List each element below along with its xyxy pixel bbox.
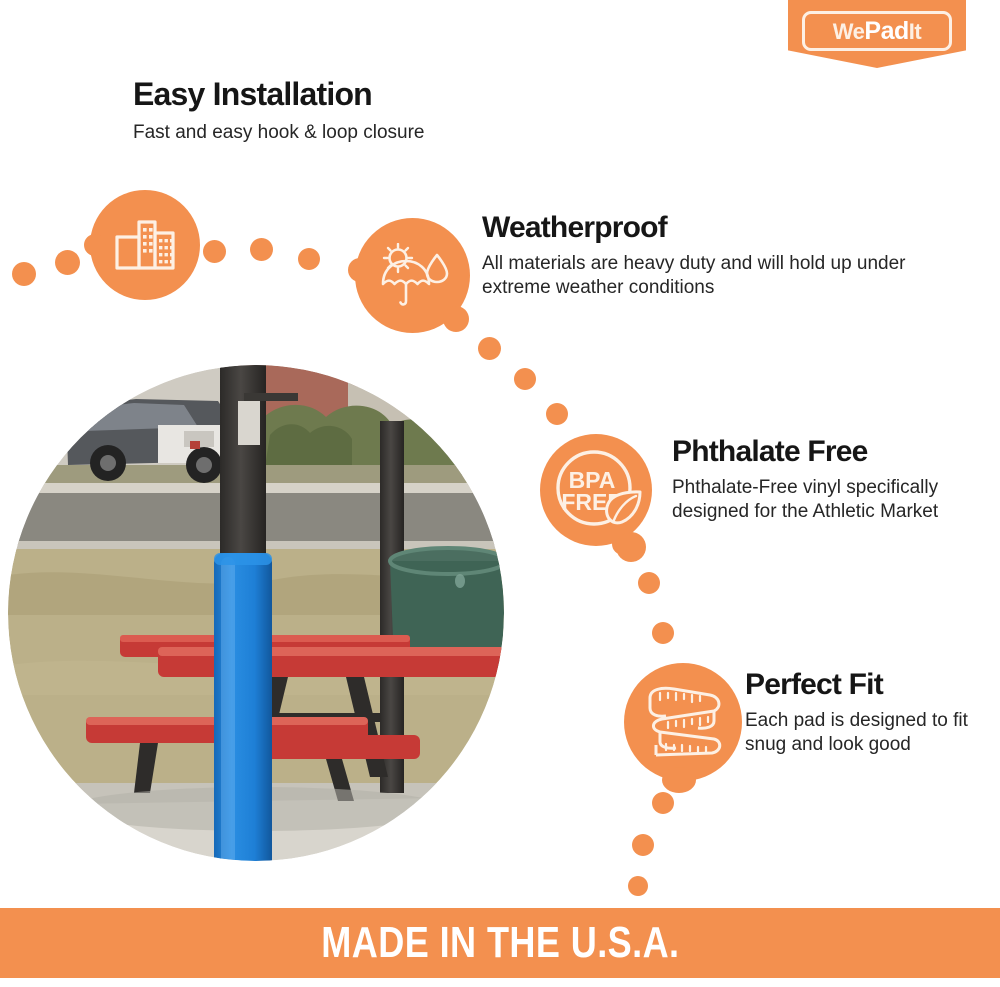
- feature-description: Each pad is designed to fit snug and loo…: [745, 709, 985, 758]
- feature-block-phthalate-free: Phthalate Free Phthalate-Free vinyl spec…: [672, 436, 972, 524]
- feature-title: Phthalate Free: [672, 436, 972, 468]
- trail-dot: [478, 337, 501, 360]
- badge-nub: [348, 258, 372, 282]
- trail-dot: [638, 572, 660, 594]
- trail-dot: [298, 248, 320, 270]
- badge-nub: [616, 532, 646, 562]
- trail-dot: [652, 792, 674, 814]
- feature-block-weatherproof: Weatherproof All materials are heavy dut…: [482, 212, 912, 300]
- building-installation-icon: [90, 190, 200, 300]
- logo-text-pad: Pad: [864, 17, 908, 45]
- logo-text-it: It: [909, 19, 921, 44]
- feature-block-perfect-fit: Perfect Fit Each pad is designed to fit …: [745, 669, 985, 757]
- badge-nub: [84, 234, 106, 256]
- made-in-usa-text: MADE IN THE U.S.A.: [321, 918, 679, 968]
- made-in-usa-banner: MADE IN THE U.S.A.: [0, 908, 1000, 978]
- brand-logo[interactable]: WePadIt: [788, 0, 966, 68]
- feature-title: Weatherproof: [482, 212, 912, 244]
- logo-text-we: We: [833, 19, 865, 44]
- feature-description: Fast and easy hook & loop closure: [133, 121, 553, 145]
- feature-block-easy-installation: Easy Installation Fast and easy hook & l…: [133, 78, 553, 145]
- feature-title: Perfect Fit: [745, 669, 985, 701]
- product-photo: [8, 365, 504, 861]
- trail-dot: [632, 834, 654, 856]
- logo-outline-box: WePadIt: [802, 11, 952, 51]
- trail-dot: [546, 403, 568, 425]
- bpa-free-leaf-icon: BPA FREE: [540, 434, 652, 546]
- trail-dot: [652, 622, 674, 644]
- trail-dot: [514, 368, 536, 390]
- trail-dot: [203, 240, 226, 263]
- infographic-page: WePadIt Easy Installation Fast and easy …: [0, 0, 1000, 987]
- measuring-tape-icon: [624, 663, 742, 781]
- trail-dot: [628, 876, 648, 896]
- badge-nub: [443, 306, 469, 332]
- logo-text: WePadIt: [833, 19, 921, 44]
- sun-umbrella-raindrop-icon: [355, 218, 470, 333]
- feature-title: Easy Installation: [133, 78, 553, 112]
- badge-nub: [662, 767, 696, 793]
- trail-dot: [55, 250, 80, 275]
- trail-dot: [250, 238, 273, 261]
- feature-description: All materials are heavy duty and will ho…: [482, 252, 912, 301]
- feature-description: Phthalate-Free vinyl specifically design…: [672, 476, 972, 525]
- trail-dot: [12, 262, 36, 286]
